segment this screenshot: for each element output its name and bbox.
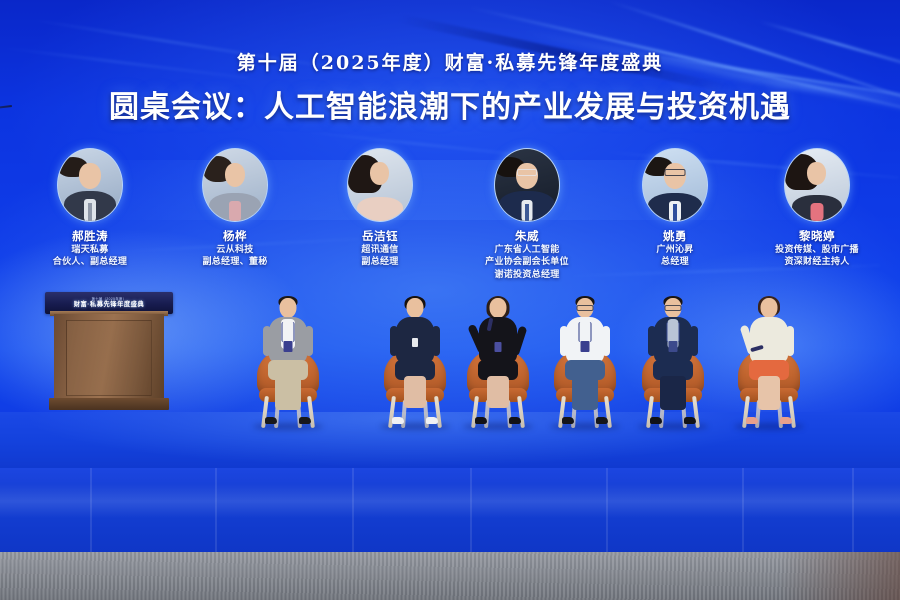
- speaker-card-1: 郝胜涛 瑞天私募 合伙人、副总经理: [15, 148, 165, 269]
- speaker-portrait-1: [57, 148, 123, 222]
- speaker-name-4: 朱威: [452, 228, 602, 244]
- speaker-portrait-6: [784, 148, 850, 222]
- speaker-role-4: 产业协会副会长单位: [452, 256, 602, 268]
- speaker-role2-4: 谢诺投资总经理: [452, 269, 602, 281]
- speaker-role-2: 副总经理、董秘: [160, 256, 310, 268]
- panelist-4: [542, 278, 628, 428]
- stage-skirt: [0, 468, 900, 554]
- panelist-row: [0, 268, 900, 428]
- panelist-2: [372, 278, 458, 428]
- panelist-6: [726, 278, 812, 428]
- panelist-3: [455, 278, 541, 428]
- speaker-role-3: 副总经理: [305, 256, 455, 268]
- speaker-name-6: 黎晓婷: [742, 228, 892, 244]
- speaker-role-1: 合伙人、副总经理: [15, 256, 165, 268]
- panelist-figure-6: [740, 298, 798, 424]
- speaker-card-6: 黎晓婷 投资传媒、股市广播 资深财经主持人: [742, 148, 892, 269]
- event-subtitle: 第十届（2025年度）财富·私募先锋年度盛典: [0, 52, 900, 75]
- title-block: 第十届（2025年度）财富·私募先锋年度盛典 圆桌会议：人工智能浪潮下的产业发展…: [0, 52, 900, 126]
- speaker-card-5: 姚勇 广州沁昇 总经理: [600, 148, 750, 269]
- speaker-portrait-4: [494, 148, 560, 222]
- panelist-figure-3: [469, 298, 527, 424]
- speaker-role-6: 资深财经主持人: [742, 256, 892, 268]
- speaker-role-5: 总经理: [600, 256, 750, 268]
- panelist-figure-4: [556, 298, 614, 424]
- speaker-org-2: 云从科技: [160, 244, 310, 256]
- speaker-org-1: 瑞天私募: [15, 244, 165, 256]
- speaker-org-6: 投资传媒、股市广播: [742, 244, 892, 256]
- panelist-5: [630, 278, 716, 428]
- page-title: 圆桌会议：人工智能浪潮下的产业发展与投资机遇: [0, 82, 900, 126]
- speaker-org-4: 广东省人工智能: [452, 244, 602, 256]
- speaker-name-5: 姚勇: [600, 228, 750, 244]
- floor-carpet: [0, 552, 900, 600]
- speaker-org-3: 超讯通信: [305, 244, 455, 256]
- speaker-card-row: 郝胜涛 瑞天私募 合伙人、副总经理 杨桦 云从科技 副总经理、董秘: [0, 148, 900, 273]
- speaker-portrait-2: [202, 148, 268, 222]
- panelist-figure-5: [644, 298, 702, 424]
- speaker-name-2: 杨桦: [160, 228, 310, 244]
- speaker-card-2: 杨桦 云从科技 副总经理、董秘: [160, 148, 310, 269]
- panelist-figure-2: [386, 298, 444, 424]
- speaker-name-1: 郝胜涛: [15, 228, 165, 244]
- panelist-figure-1: [259, 298, 317, 424]
- speaker-name-3: 岳洁钰: [305, 228, 455, 244]
- speaker-card-4: 朱威 广东省人工智能 产业协会副会长单位 谢诺投资总经理: [452, 148, 602, 281]
- speaker-portrait-3: [347, 148, 413, 222]
- speaker-org-5: 广州沁昇: [600, 244, 750, 256]
- speaker-portrait-5: [642, 148, 708, 222]
- conference-stage-photo: 第十届（2025年度）财富·私募先锋年度盛典 圆桌会议：人工智能浪潮下的产业发展…: [0, 0, 900, 600]
- panelist-1: [245, 278, 331, 428]
- speaker-card-3: 岳洁钰 超讯通信 副总经理: [305, 148, 455, 269]
